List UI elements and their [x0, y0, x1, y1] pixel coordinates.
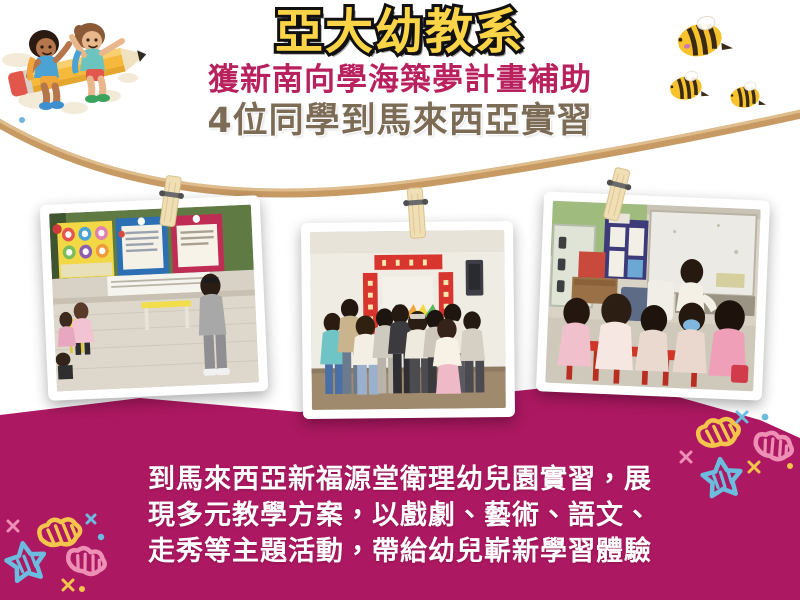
clothespin-icon-right: [598, 166, 634, 224]
dot-icon-yellow-left: [79, 586, 85, 592]
scribble-doodle-icon-yellow-left: [38, 516, 82, 547]
photo-image-classroom: [49, 205, 259, 392]
clothespin-icon-left: [152, 174, 188, 230]
clothespin-icon-center: [398, 186, 434, 242]
rope-path: [0, 112, 800, 193]
page-title: 亞大幼教系: [0, 8, 800, 57]
bee-icon-large: [673, 12, 733, 61]
dot-icon-blue-right: [762, 414, 769, 421]
sparkle-icon-yellow-right: [749, 462, 759, 472]
scribble-doodle-icon-pink-left: [66, 545, 108, 576]
scribble-doodle-icon-blue-star-left: [4, 540, 48, 582]
poster-canvas: 亞大幼教系 獲新南向學海築夢計畫補助 4位同學到馬來西亞實習: [0, 0, 800, 600]
headline-block: 亞大幼教系 獲新南向學海築夢計畫補助 4位同學到馬來西亞實習: [0, 8, 800, 139]
dot-icon-yellow-right: [787, 463, 793, 469]
cloud-puffs: [2, 53, 138, 114]
bee-icon-medium: [668, 69, 710, 102]
bee-icon-small: [729, 80, 766, 109]
caption-line-1: 到馬來西亞新福源堂衛理幼兒園實習，展: [0, 462, 800, 498]
caption-line-2: 現多元教學方案，以戲劇、藝術、語文、: [0, 498, 800, 534]
photo-image-activity: [545, 201, 760, 392]
photo-frame-group: [301, 221, 515, 419]
caption-line-3: 走秀等主題活動，帶給幼兒嶄新學習體驗: [0, 534, 800, 570]
subtitle-grant: 獲新南向學海築夢計畫補助: [0, 65, 800, 97]
caption-block: 到馬來西亞新福源堂衛理幼兒園實習，展 現多元教學方案，以戲劇、藝術、語文、 走秀…: [0, 462, 800, 571]
scribble-doodle-icon-yellow: [696, 415, 741, 449]
sparkle-icon-yellow-left: [63, 580, 73, 590]
pencil-icon: [7, 43, 149, 98]
photo-image-group: [310, 230, 506, 410]
sparkle-icon-blue-right: [737, 412, 747, 422]
rope-highlight: [0, 109, 800, 190]
sparkle-icon-pink-left: [8, 521, 18, 531]
child-right-figure: [72, 23, 122, 103]
subtitle-students: 4位同學到馬來西亞實習: [0, 104, 800, 140]
scribble-doodle-icon-pink: [752, 429, 795, 462]
dot-icon-blue-left: [98, 534, 104, 540]
scribble-doodle-icon-blue-star: [701, 457, 743, 497]
sparkle-icon-blue-left: [87, 515, 95, 523]
photo-frame-activity: [536, 191, 770, 400]
sparkle-icon-pink-right: [681, 452, 691, 462]
child-left-figure: [29, 30, 69, 110]
